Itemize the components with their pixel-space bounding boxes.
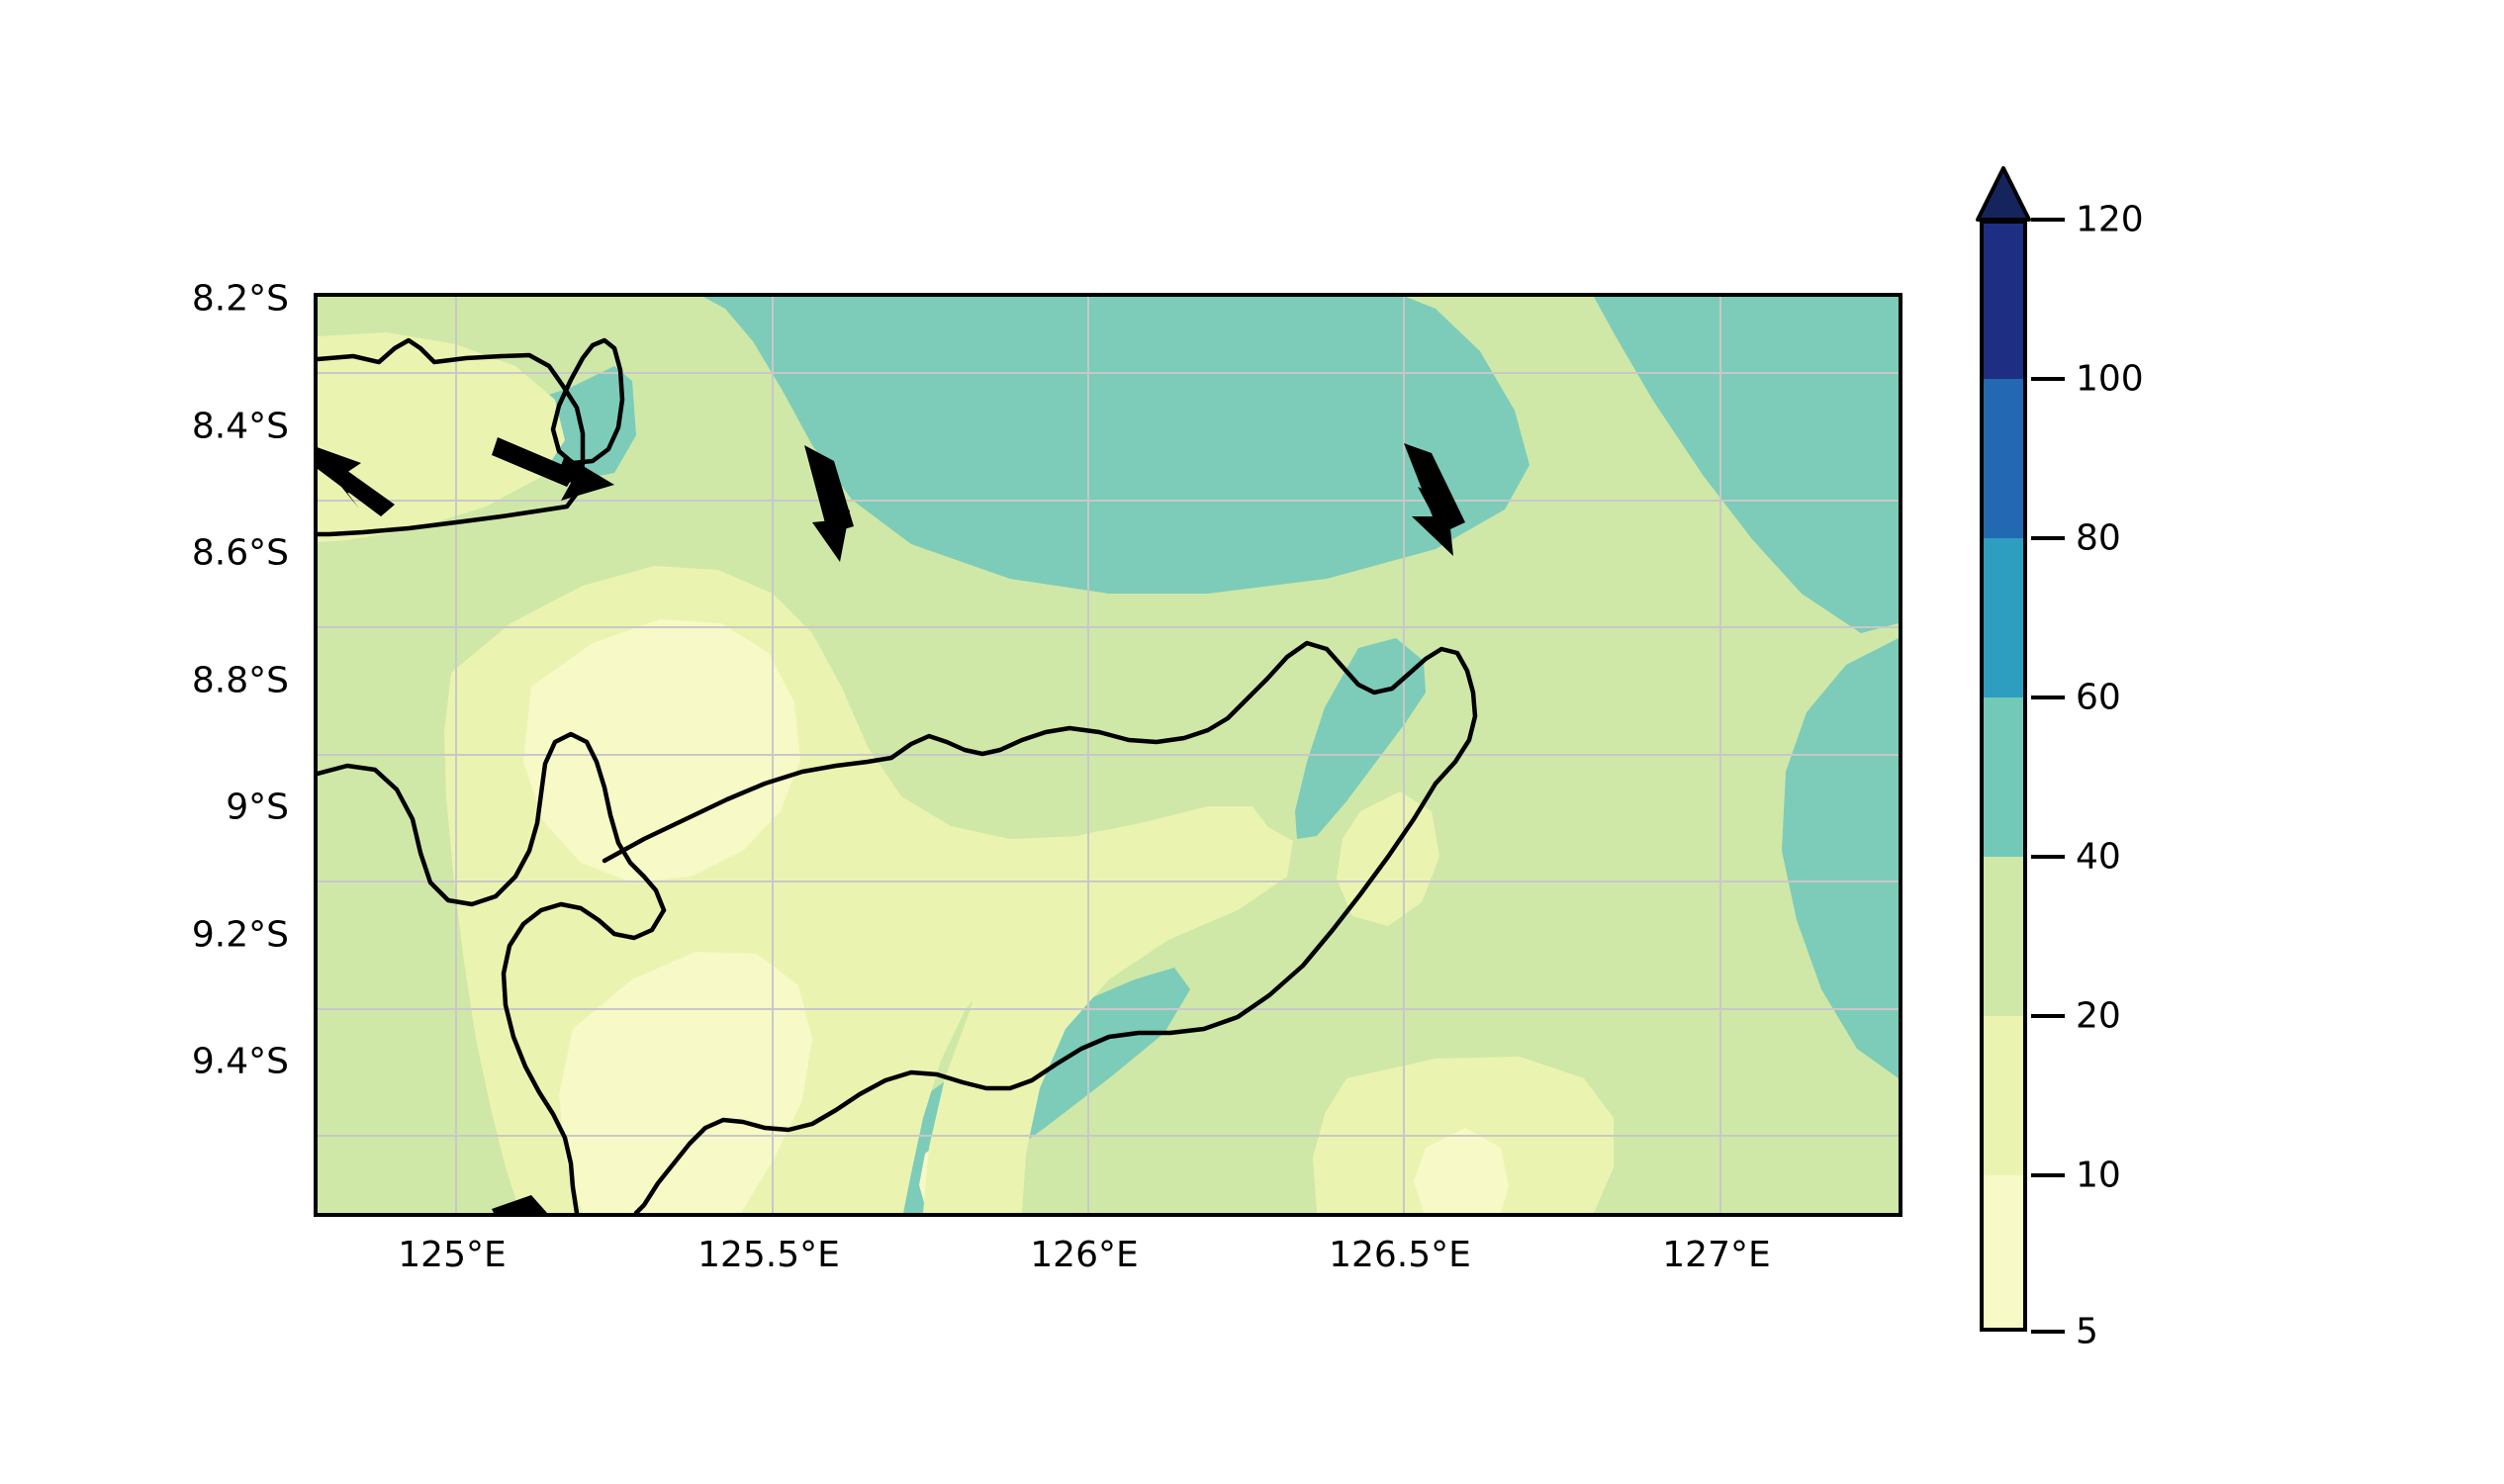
xtick-label-3: 126.5°E [1271, 1235, 1529, 1275]
colorbar[interactable] [1980, 220, 2027, 1332]
colorbar-tick-120 [2031, 218, 2065, 222]
xtick-label-1: 125.5°E [640, 1235, 897, 1275]
colorbar-band-60-80 [1980, 538, 2027, 697]
colorbar-label-80: 80 [2076, 518, 2121, 559]
colorbar-band-5-10 [1980, 1175, 2027, 1332]
ytick-label-2: 8.6°S [22, 533, 289, 574]
colorbar-band-100-120 [1980, 220, 2027, 379]
ytick-label-6: 9.4°S [22, 1042, 289, 1082]
colorbar-label-120: 120 [2076, 200, 2144, 240]
colorbar-label-20: 20 [2076, 996, 2121, 1037]
colorbar-tick-10 [2031, 1173, 2065, 1177]
colorbar-tick-80 [2031, 536, 2065, 540]
xtick-label-4: 127°E [1588, 1235, 1845, 1275]
colorbar-tick-20 [2031, 1014, 2065, 1018]
colorbar-label-5: 5 [2076, 1312, 2098, 1352]
colorbar-label-60: 60 [2076, 678, 2121, 718]
ytick-label-1: 8.4°S [22, 407, 289, 447]
colorbar-band-10-20 [1980, 1016, 2027, 1175]
ytick-label-5: 9.2°S [22, 915, 289, 956]
map-contour-svg [318, 297, 1899, 1213]
colorbar-label-40: 40 [2076, 837, 2121, 878]
colorbar-extend-arrow [1976, 166, 2031, 224]
xtick-label-2: 126°E [956, 1235, 1213, 1275]
colorbar-tick-40 [2031, 855, 2065, 859]
colorbar-band-20-40 [1980, 857, 2027, 1016]
ytick-label-3: 8.8°S [22, 661, 289, 701]
ytick-label-0: 8.2°S [22, 279, 289, 320]
figure-canvas: WS-10m(kmph) @ 20250210_00 Simulation Ti… [0, 0, 2504, 1484]
colorbar-tick-60 [2031, 696, 2065, 699]
map-plot-area [314, 293, 1902, 1217]
ytick-label-4: 9°S [22, 788, 289, 828]
colorbar-band-40-60 [1980, 697, 2027, 857]
colorbar-tick-5 [2031, 1330, 2065, 1334]
colorbar-tick-100 [2031, 377, 2065, 381]
colorbar-band-80-100 [1980, 379, 2027, 538]
xtick-label-0: 125°E [324, 1235, 581, 1275]
colorbar-label-100: 100 [2076, 359, 2144, 400]
colorbar-label-10: 10 [2076, 1156, 2121, 1196]
